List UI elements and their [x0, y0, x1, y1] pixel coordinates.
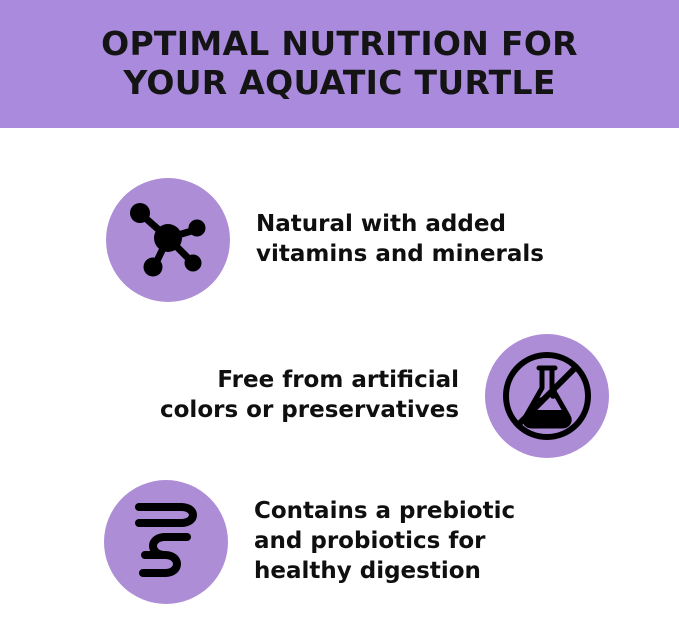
feature-item-natural-vitamins: Natural with added vitamins and minerals — [106, 178, 544, 302]
feature-text-prebiotic-probiotic: Contains a prebiotic and probiotics for … — [254, 497, 515, 587]
page-title: OPTIMAL NUTRITION FOR YOUR AQUATIC TURTL… — [24, 25, 655, 102]
feature-text-line: colors or preservatives — [160, 396, 459, 426]
feature-text-line: Natural with added — [256, 210, 544, 240]
feature-text-line: and probiotics for — [254, 527, 515, 557]
infographic-page: OPTIMAL NUTRITION FOR YOUR AQUATIC TURTL… — [0, 0, 679, 631]
intestine-digestion-icon — [125, 499, 207, 585]
feature-item-prebiotic-probiotic: Contains a prebiotic and probiotics for … — [104, 480, 515, 604]
molecule-icon — [125, 197, 211, 283]
page-title-line-1: OPTIMAL NUTRITION FOR — [24, 25, 655, 64]
no-chemicals-flask-icon — [503, 352, 591, 440]
header-banner: OPTIMAL NUTRITION FOR YOUR AQUATIC TURTL… — [0, 0, 679, 128]
feature-text-line: healthy digestion — [254, 557, 515, 587]
no-chemicals-flask-icon-badge — [485, 334, 609, 458]
header-banner-inner: OPTIMAL NUTRITION FOR YOUR AQUATIC TURTL… — [0, 25, 679, 102]
feature-text-line: Free from artificial — [160, 366, 459, 396]
feature-text-no-artificial: Free from artificial colors or preservat… — [160, 366, 459, 426]
feature-item-no-artificial: Free from artificial colors or preservat… — [160, 334, 609, 458]
intestine-digestion-icon-badge — [104, 480, 228, 604]
molecule-icon-badge — [106, 178, 230, 302]
feature-text-natural-vitamins: Natural with added vitamins and minerals — [256, 210, 544, 270]
page-title-line-2: YOUR AQUATIC TURTLE — [24, 64, 655, 103]
feature-text-line: vitamins and minerals — [256, 240, 544, 270]
feature-list: Natural with added vitamins and minerals — [0, 128, 679, 631]
feature-text-line: Contains a prebiotic — [254, 497, 515, 527]
